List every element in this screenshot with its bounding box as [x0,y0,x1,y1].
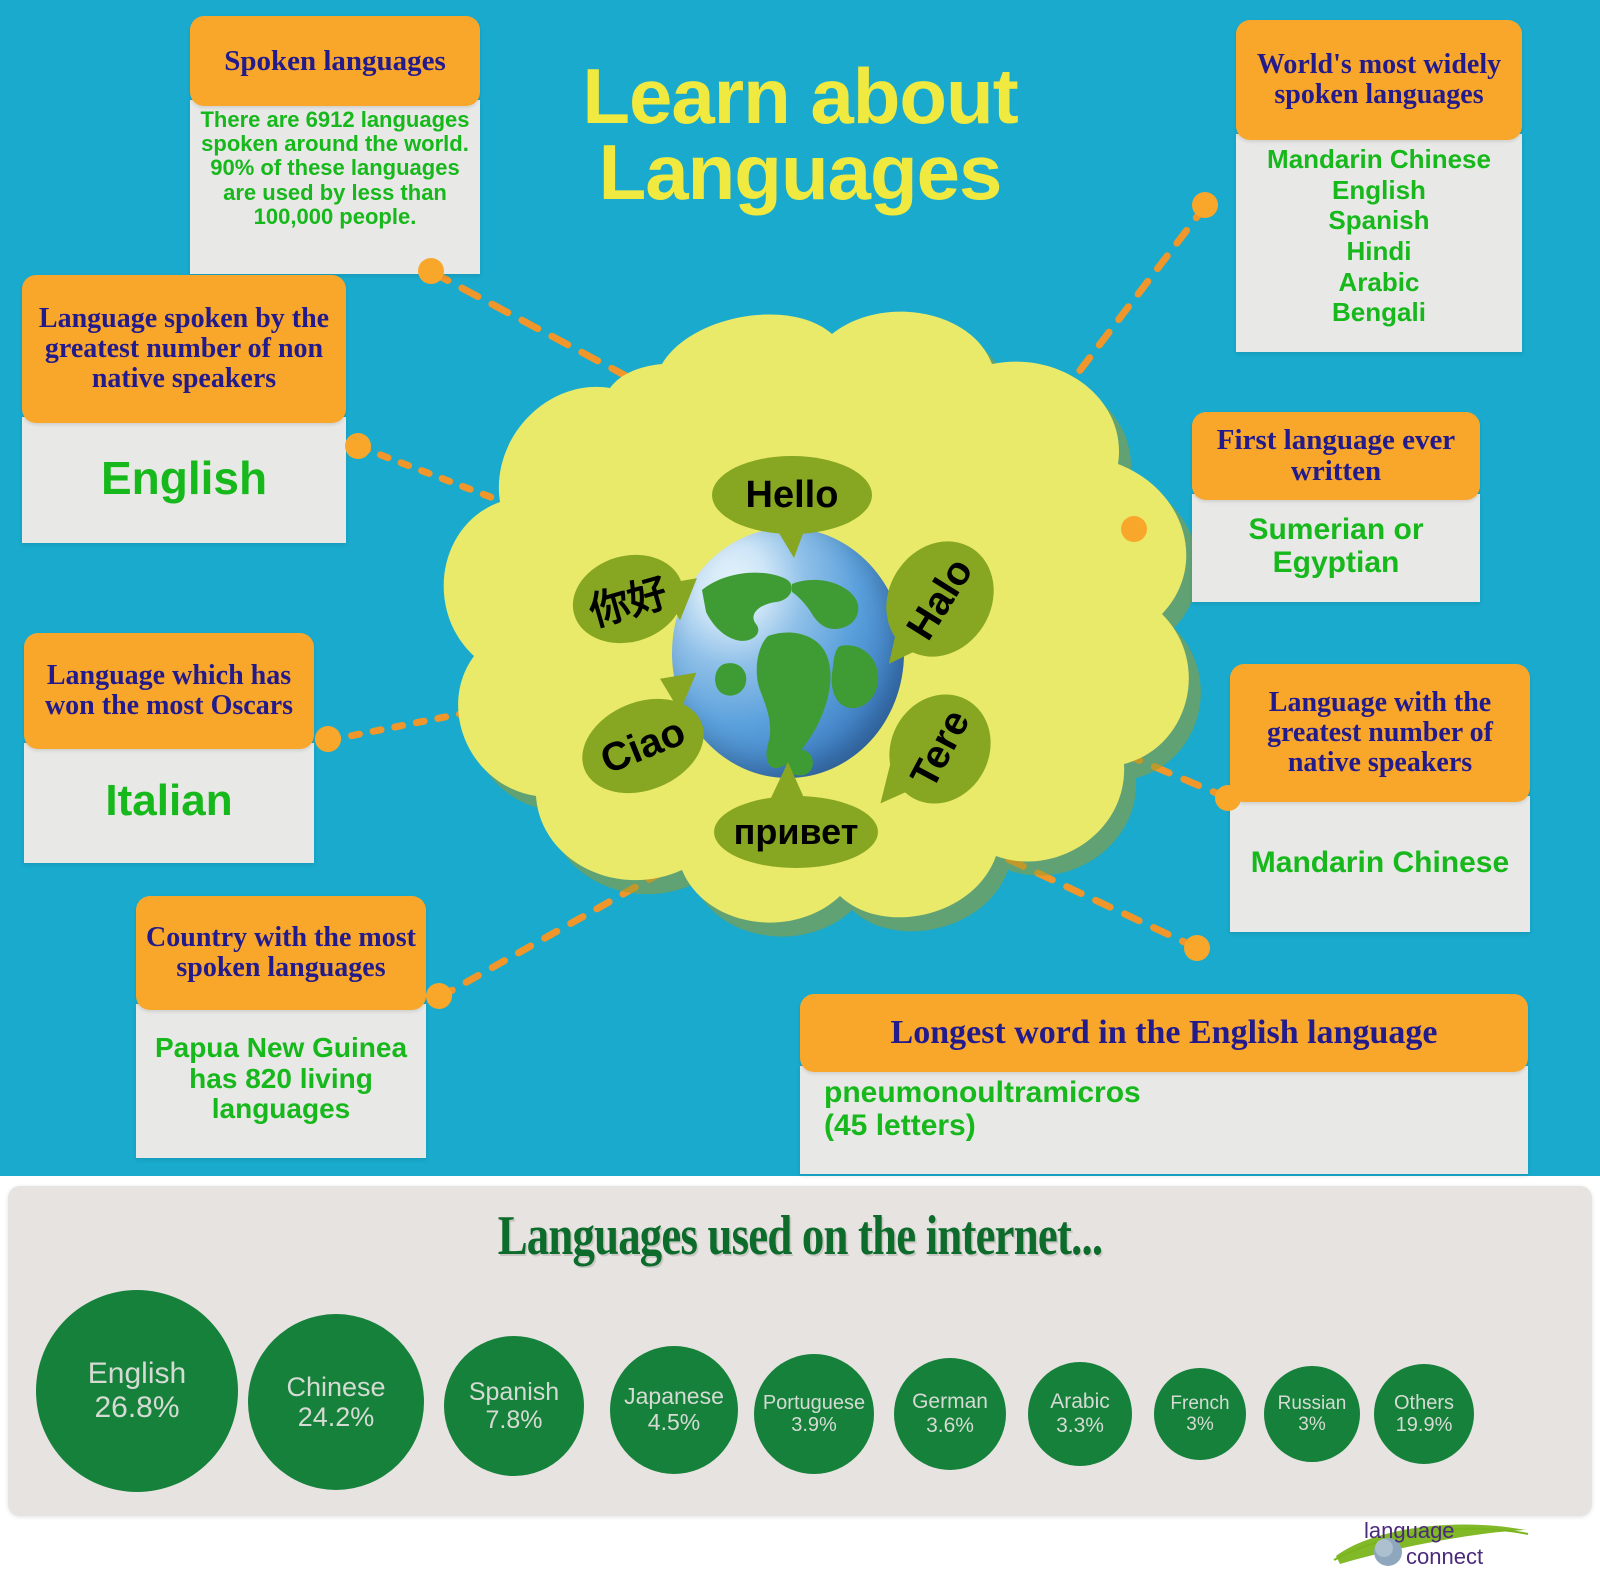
chart-circle-japanese: Japanese 4.5% [610,1346,738,1474]
speech-bubble-hello: Hello [712,456,872,534]
top-section: Learn about Languages [0,0,1600,1176]
fact-oscars-heading: Language which has won the most Oscars [24,633,314,749]
connector-dot-spoken-languages [418,258,444,284]
chart-circle-german-value: 3.6% [926,1414,974,1438]
chart-circle-english-value: 26.8% [94,1391,179,1425]
chart-circle-chinese-label: Chinese [286,1372,385,1402]
speech-bubble-hello-text: Hello [746,474,839,517]
globe-icon [672,528,904,778]
fact-oscars-body: Italian [24,743,314,863]
connector-dot-oscars [315,726,341,752]
connector-dot-most-spoken-country [426,983,452,1009]
speech-bubble-nihao-text: 你好 [582,560,675,638]
chart-circle-japanese-value: 4.5% [648,1410,700,1436]
chart-circle-arabic-value: 3.3% [1056,1414,1104,1438]
fact-native-speakers: Language with the greatest number of nat… [1230,664,1530,932]
chart-circle-russian-label: Russian [1278,1393,1347,1414]
fact-native-speakers-body: Mandarin Chinese [1230,796,1530,932]
chart-circle-russian: Russian 3% [1264,1366,1360,1462]
fact-first-written-body: Sumerian or Egyptian [1192,494,1480,602]
chart-circle-french-value: 3% [1186,1414,1213,1435]
chart-circle-chinese: Chinese 24.2% [248,1314,424,1490]
connector-dot-native-speakers [1215,785,1241,811]
chart-circle-french-label: French [1170,1393,1229,1414]
chart-circle-spanish-value: 7.8% [486,1406,543,1434]
language-connect-logo: language connect [1330,1512,1530,1574]
fact-longest-word-heading: Longest word in the English language [800,994,1528,1072]
fact-oscars: Language which has won the most Oscars I… [24,633,314,863]
chart-circle-chinese-value: 24.2% [298,1402,375,1432]
speech-bubble-privet-text: привет [734,811,859,853]
connector-dot-longest-word [1184,935,1210,961]
fact-first-written: First language ever written Sumerian or … [1192,412,1480,602]
chart-circle-portuguese-value: 3.9% [791,1414,837,1436]
fact-native-speakers-heading: Language with the greatest number of nat… [1230,664,1530,802]
fact-non-native: Language spoken by the greatest number o… [22,275,346,543]
fact-spoken-languages-heading: Spoken languages [190,16,480,106]
speech-bubble-privet: привет [714,796,878,868]
fact-most-spoken-country: Country with the most spoken languages P… [136,896,426,1158]
chart-circle-spanish-label: Spanish [469,1378,559,1406]
chart-circle-others: Others 19.9% [1374,1364,1474,1464]
chart-circle-german: German 3.6% [894,1358,1006,1470]
chart-circle-portuguese-label: Portuguese [763,1392,865,1414]
chart-circle-french: French 3% [1154,1368,1246,1460]
connector-dot-widely-spoken [1192,192,1218,218]
chart-circle-english: English 26.8% [36,1290,238,1492]
fact-non-native-body: English [22,417,346,543]
fact-most-spoken-country-heading: Country with the most spoken languages [136,896,426,1010]
chart-circle-others-value: 19.9% [1396,1414,1453,1436]
fact-widely-spoken: World's most widely spoken languages Man… [1236,20,1522,352]
fact-most-spoken-country-body: Papua New Guinea has 820 living language… [136,1004,426,1158]
chart-circle-russian-value: 3% [1298,1414,1325,1435]
internet-languages-panel: Languages used on the internet... Englis… [8,1186,1592,1516]
fact-longest-word: Longest word in the English language pne… [800,994,1528,1174]
fact-non-native-heading: Language spoken by the greatest number o… [22,275,346,423]
infographic-root: Learn about Languages [0,0,1600,1588]
logo-text-language: language [1364,1518,1455,1543]
chart-circle-portuguese: Portuguese 3.9% [754,1354,874,1474]
fact-first-written-heading: First language ever written [1192,412,1480,500]
chart-circle-german-label: German [912,1390,988,1414]
chart-circle-others-label: Others [1394,1392,1454,1414]
connector-dot-first-written [1121,516,1147,542]
logo-text-connect: connect [1406,1544,1483,1569]
chart-circle-english-label: English [88,1357,186,1391]
speech-bubble-ciao-text: Ciao [594,709,691,783]
fact-longest-word-body: pneumonoultramicros (45 letters) [800,1066,1528,1174]
bubble-tail-icon [766,762,810,802]
fact-widely-spoken-heading: World's most widely spoken languages [1236,20,1522,140]
chart-circle-japanese-label: Japanese [624,1384,724,1410]
chart-circle-arabic: Arabic 3.3% [1028,1362,1132,1466]
chart-circle-spanish: Spanish 7.8% [444,1336,584,1476]
fact-spoken-languages: Spoken languages There are 6912 language… [190,16,480,274]
chart-circle-arabic-label: Arabic [1050,1390,1110,1414]
fact-widely-spoken-body: Mandarin Chinese English Spanish Hindi A… [1236,134,1522,352]
connector-dot-non-native [345,433,371,459]
chart-title: Languages used on the internet... [166,1204,1433,1268]
bubble-tail-icon [770,518,816,558]
fact-spoken-languages-body: There are 6912 languages spoken around t… [190,100,480,274]
